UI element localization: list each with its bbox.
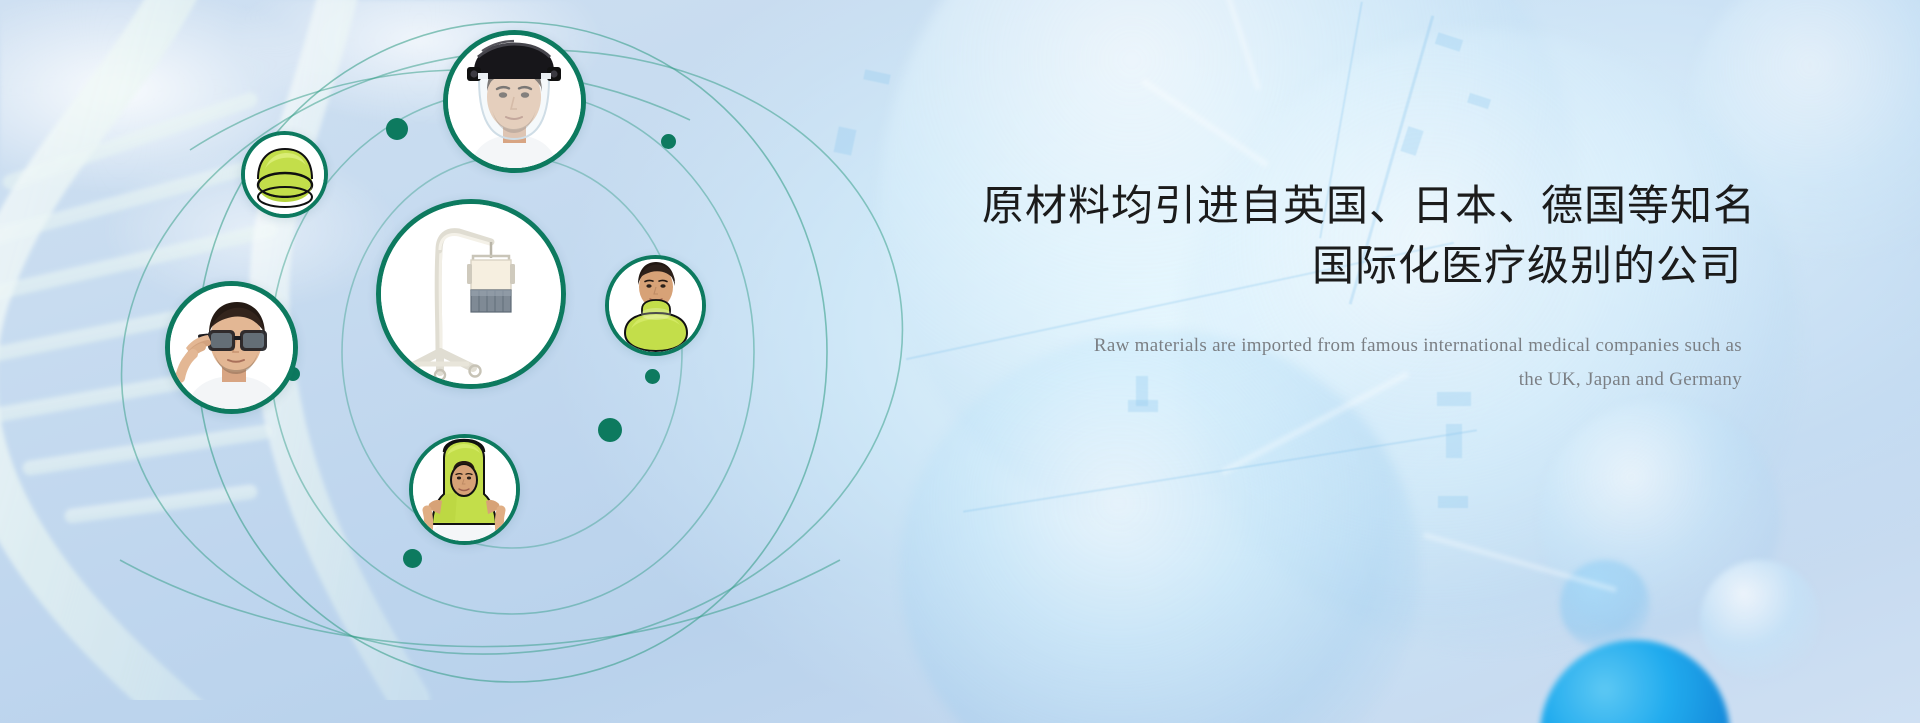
subtitle-line-2: the UK, Japan and Germany	[982, 363, 1742, 396]
thyroid-collar-icon	[609, 259, 702, 352]
headline: 原材料均引进自英国、日本、德国等知名 国际化医疗级别的公司	[982, 176, 1742, 295]
product-circle-lead-cap[interactable]	[241, 131, 328, 218]
lead-hood-icon	[413, 438, 516, 541]
orbit-node-dot	[386, 118, 408, 140]
orbit-node-dot	[645, 369, 660, 384]
tech-square	[1438, 496, 1468, 508]
headline-line-2: 国际化医疗级别的公司	[982, 236, 1742, 296]
tech-square	[1446, 424, 1462, 458]
product-circle-mobile-shield-stand[interactable]	[376, 199, 566, 389]
orbit-node-dot	[598, 418, 622, 442]
product-circle-radiation-face-shield[interactable]	[443, 30, 586, 173]
lead-glasses-icon	[170, 286, 293, 409]
product-circle-thyroid-collar[interactable]	[605, 255, 706, 356]
subtitle-line-1: Raw materials are imported from famous i…	[982, 329, 1742, 362]
headline-line-1: 原材料均引进自英国、日本、德国等知名	[982, 181, 1756, 230]
orbit-node-dot	[661, 134, 676, 149]
mobile-shield-stand-icon	[381, 204, 561, 384]
subtitle: Raw materials are imported from famous i…	[982, 329, 1742, 396]
orbit-node-dot	[403, 549, 422, 568]
lead-cap-icon	[245, 135, 324, 214]
product-circle-lead-hood[interactable]	[409, 434, 520, 545]
hero-banner: 原材料均引进自英国、日本、德国等知名 国际化医疗级别的公司 Raw materi…	[0, 0, 1920, 723]
face-shield-icon	[448, 35, 581, 168]
product-circle-lead-glasses[interactable]	[165, 281, 298, 414]
banner-copy: 原材料均引进自英国、日本、德国等知名 国际化医疗级别的公司 Raw materi…	[982, 176, 1742, 396]
